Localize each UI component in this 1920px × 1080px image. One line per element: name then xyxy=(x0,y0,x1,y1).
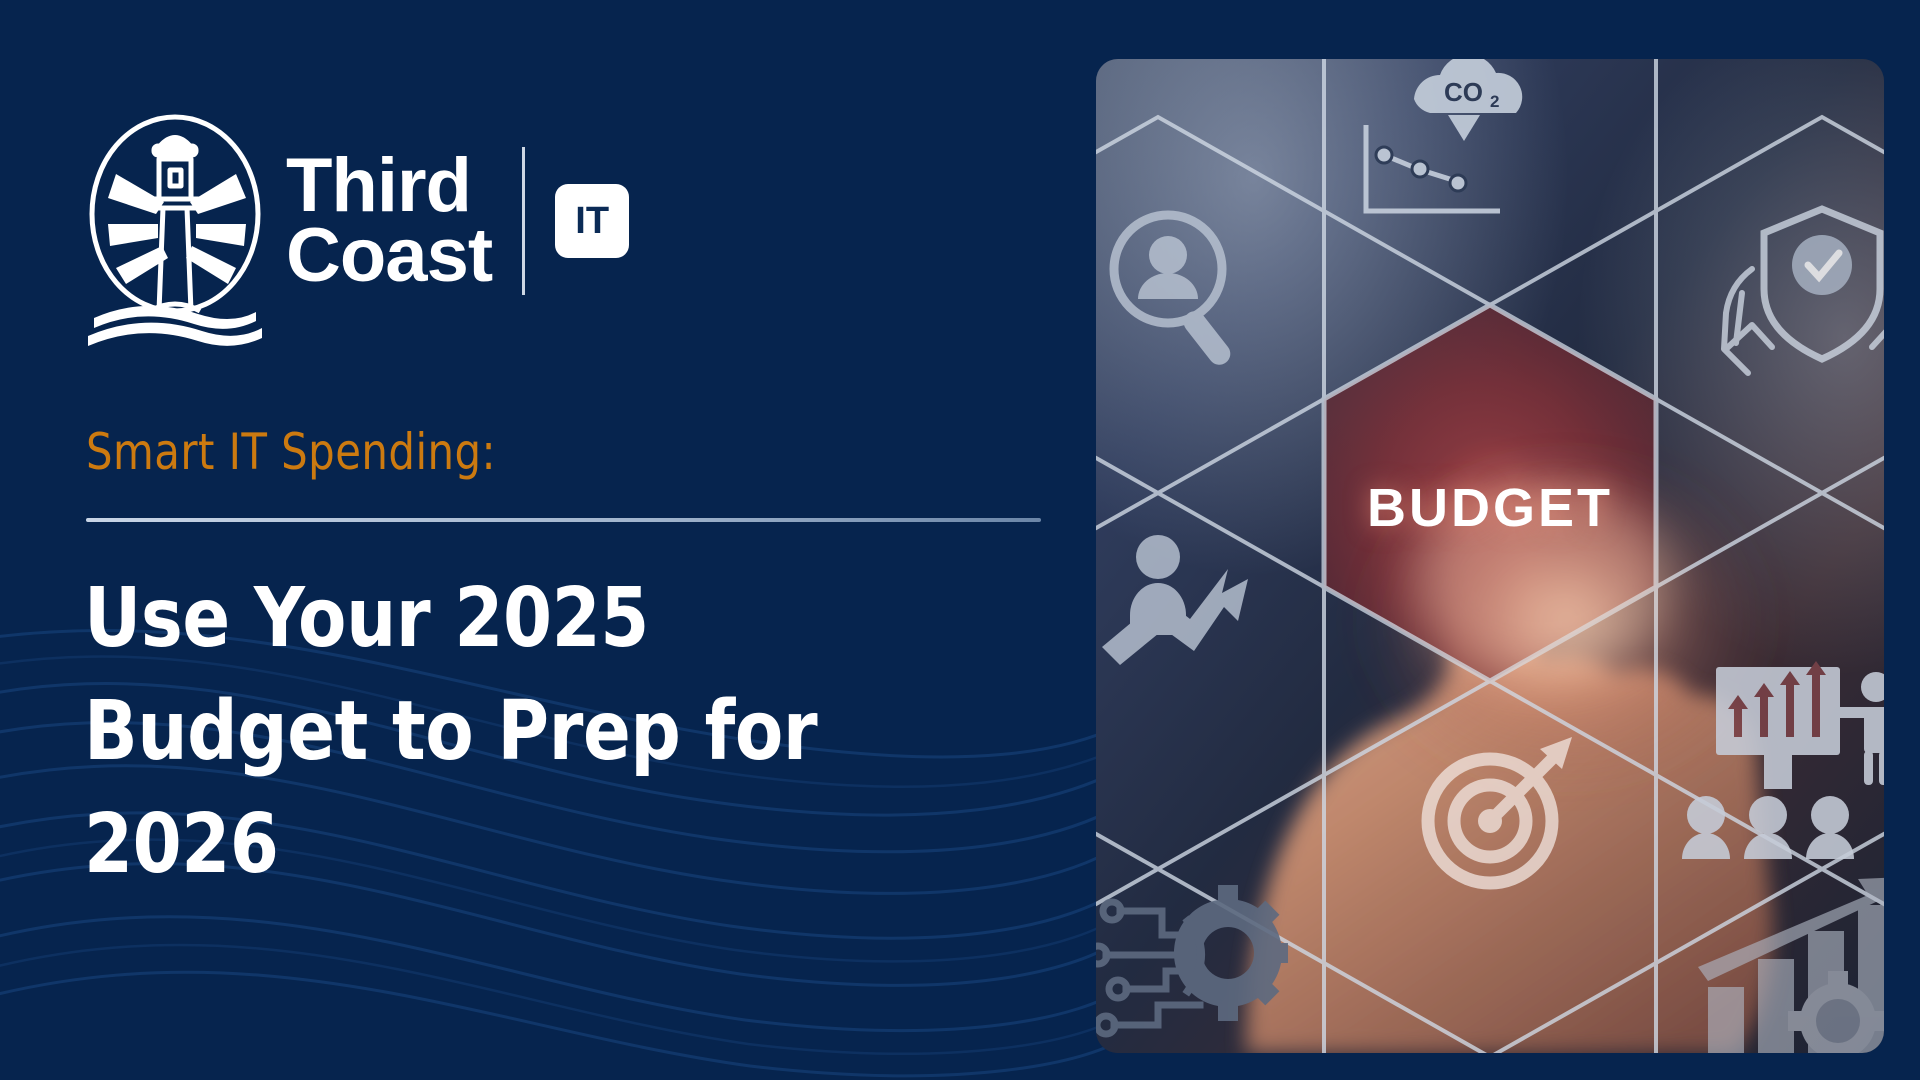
horizontal-rule xyxy=(86,518,1041,522)
lighthouse-icon xyxy=(86,96,264,346)
it-badge-label: IT xyxy=(575,200,609,243)
page-title: Use Your 2025 Budget to Prep for 2026 xyxy=(84,562,884,901)
hero-image-card: CO 2 xyxy=(1096,59,1884,1053)
brand-name-line1: Third xyxy=(286,151,492,221)
eyebrow-text: Smart IT Spending: xyxy=(86,423,496,481)
logo-divider xyxy=(522,147,525,295)
svg-text:CO: CO xyxy=(1444,77,1483,107)
brand-logo: Third Coast IT xyxy=(86,96,629,346)
it-badge: IT xyxy=(555,184,629,258)
slide-canvas: Third Coast IT Smart IT Spending: Use Yo… xyxy=(0,0,1920,1080)
left-content-panel: Third Coast IT Smart IT Spending: Use Yo… xyxy=(0,0,1090,1080)
brand-name-line2: Coast xyxy=(286,221,492,291)
hexagon-budget-graphic: CO 2 xyxy=(1096,59,1884,1053)
svg-text:2: 2 xyxy=(1490,92,1499,111)
brand-wordmark: Third Coast xyxy=(286,151,492,291)
